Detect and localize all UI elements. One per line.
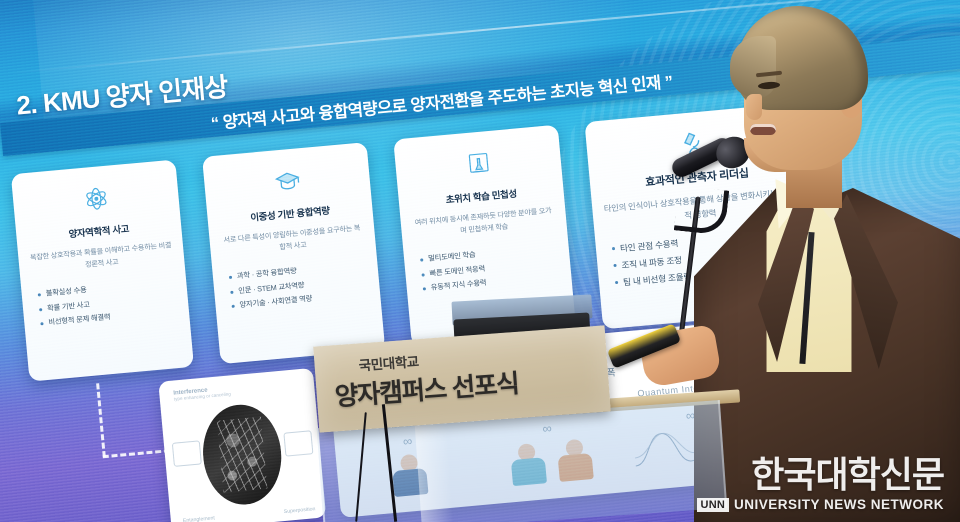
node-right-label: Superposition <box>284 506 316 515</box>
atom-icon <box>23 170 169 227</box>
competency-card: 이중성 기반 융합역량 서로 다른 특성이 양립하는 이중성을 요구하는 복합적… <box>202 142 385 364</box>
speaker-person <box>700 6 960 522</box>
card-description: 복잡한 상호작용과 확률을 이해하고 수용하는 비결정론적 사고 <box>29 240 174 276</box>
slide-quote-text: “ 양자적 사고와 융합역량으로 양자전환을 주도하는 초지능 혁신 인재 ” <box>210 68 674 134</box>
card-description: 서로 다른 특성이 양립하는 이중성을 요구하는 복합적 사고 <box>220 223 365 259</box>
connector-dashed-horizontal <box>103 444 223 458</box>
card-bullet: 인문 · STEM 교차역량 <box>229 272 369 299</box>
experiment-icon <box>405 136 551 193</box>
card-bullet-list: 불확실성 수용 확률 기반 사고 비선형적 문제 해결력 <box>36 275 178 330</box>
watermark-english-row: UNN UNIVERSITY NEWS NETWORK <box>697 497 944 512</box>
speaker-nose <box>746 94 762 120</box>
graduation-cap-icon <box>214 153 360 210</box>
card-bullet: 양자기술 · 사회연결 역량 <box>230 286 370 313</box>
card-description: 여러 위치에 동시에 존재하듯 다양한 분야를 오가며 민첩하게 학습 <box>411 205 556 241</box>
card-bullet: 빠른 도메인 적응력 <box>420 255 560 282</box>
interference-label: Interferencetype enhancing or canceling <box>173 385 231 401</box>
watermark-unn-badge: UNN <box>697 498 729 512</box>
card-bullet: 비선형적 문제 해결력 <box>39 304 179 331</box>
card-bullet: 멀티도메인 학습 <box>419 241 559 268</box>
connector-dashed-vertical <box>96 383 106 457</box>
diagram-node-left <box>172 440 202 466</box>
watermark-network-name: UNIVERSITY NEWS NETWORK <box>734 497 944 512</box>
interference-sublabel: type enhancing or canceling <box>174 391 231 401</box>
card-heading: 초위치 학습 민첩성 <box>409 182 553 209</box>
slide-title: 2. KMU 양자 인재상 <box>15 67 229 123</box>
card-bullet: 불확실성 수용 <box>36 275 176 302</box>
card-bullet: 확률 기반 사고 <box>38 290 178 317</box>
card-bullet: 유동적 지식 수용력 <box>421 269 561 296</box>
watermark: 한국대학신문 UNN UNIVERSITY NEWS NETWORK <box>697 457 944 512</box>
card-bullet-list: 과학 · 공학 융합역량 인문 · STEM 교차역량 양자기술 · 사회연결 … <box>227 258 369 313</box>
competency-card: 양자역학적 사고 복잡한 상호작용과 확률을 이해하고 수용하는 비결정론적 사… <box>11 159 194 381</box>
card-bullet-list: 멀티도메인 학습 빠른 도메인 적응력 유동적 지식 수용력 <box>419 241 561 296</box>
card-heading: 양자역학적 사고 <box>27 217 171 244</box>
interference-diagram-card: Interferencetype enhancing or canceling … <box>158 368 326 522</box>
brain-illustration <box>199 401 286 508</box>
diagram-node-right <box>283 430 313 456</box>
screen-glow-left <box>29 0 700 218</box>
card-bullet: 과학 · 공학 융합역량 <box>227 258 367 285</box>
watermark-korean: 한국대학신문 <box>697 457 944 493</box>
node-left-label: Entanglement <box>183 515 215 522</box>
diagram-footer-labels: Entanglement Superposition <box>183 506 316 522</box>
speaker-mouth <box>750 124 776 135</box>
screenshot-root: KMU 기업가정신, 국민대학교 Entrepreneurship, The K… <box>0 0 960 522</box>
podium: 국민대학교 양자캠퍼스 선포식 <box>316 332 716 522</box>
card-heading: 이중성 기반 융합역량 <box>218 200 362 227</box>
